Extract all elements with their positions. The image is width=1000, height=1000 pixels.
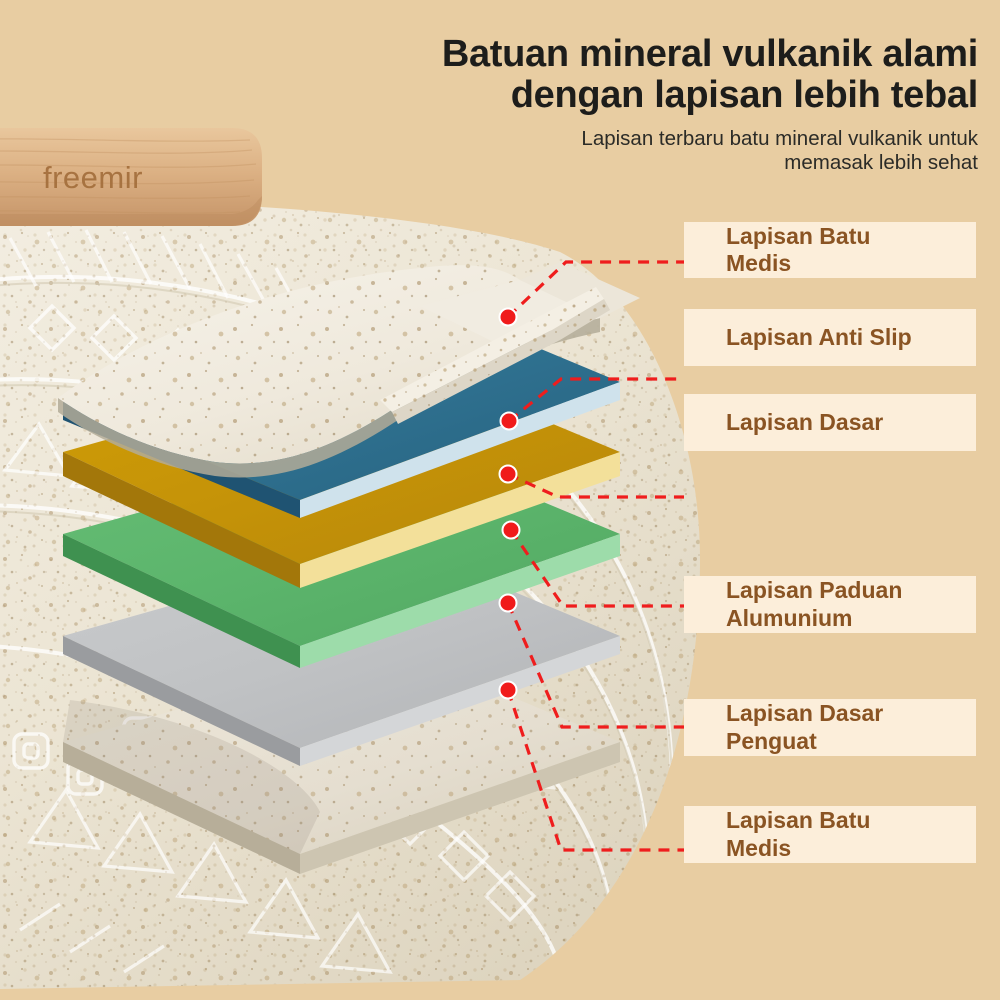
leader-dot-2 bbox=[501, 413, 518, 430]
brand-logo-text: freemir bbox=[43, 160, 143, 195]
callout-6-line-1: Lapisan Batu bbox=[726, 807, 870, 834]
callout-5-line-1: Lapisan Dasar bbox=[726, 700, 883, 727]
subtitle-line-2: memasak lebih sehat bbox=[784, 151, 978, 174]
callout-1-line-2: Medis bbox=[726, 250, 870, 277]
callout-1-line-1: Lapisan Batu bbox=[726, 223, 870, 250]
page-subtitle: Lapisan terbaru batu mineral vulkanik un… bbox=[360, 127, 978, 175]
callout-6-line-2: Medis bbox=[726, 835, 870, 862]
callout-label-lapisan-dasar: Lapisan Dasar bbox=[684, 394, 976, 451]
callout-5-line-2: Penguat bbox=[726, 728, 883, 755]
header-block: Batuan mineral vulkanik alami dengan lap… bbox=[360, 34, 978, 175]
callout-4-line-2: Alumunium bbox=[726, 605, 902, 632]
callout-label-lapisan-batu-medis-top: Lapisan Batu Medis bbox=[684, 222, 976, 278]
callout-label-lapisan-dasar-penguat: Lapisan Dasar Penguat bbox=[684, 699, 976, 756]
callout-label-lapisan-anti-slip: Lapisan Anti Slip bbox=[684, 309, 976, 366]
page-title: Batuan mineral vulkanik alami dengan lap… bbox=[360, 34, 978, 116]
leader-dot-3 bbox=[500, 466, 517, 483]
leader-dot-6 bbox=[500, 682, 517, 699]
leader-dot-5 bbox=[500, 595, 517, 612]
callout-label-lapisan-batu-medis-bottom: Lapisan Batu Medis bbox=[684, 806, 976, 863]
leader-dot-4 bbox=[503, 522, 520, 539]
subtitle-line-1: Lapisan terbaru batu mineral vulkanik un… bbox=[581, 127, 978, 150]
callout-4-line-1: Lapisan Paduan bbox=[726, 577, 902, 604]
infographic-canvas: freemir bbox=[0, 0, 1000, 1000]
leader-dot-1 bbox=[500, 309, 517, 326]
callout-2-line-1: Lapisan Anti Slip bbox=[726, 324, 912, 351]
title-line-2: dengan lapisan lebih tebal bbox=[511, 74, 978, 116]
wooden-handle: freemir bbox=[0, 128, 262, 226]
callout-3-line-1: Lapisan Dasar bbox=[726, 409, 883, 436]
title-line-1: Batuan mineral vulkanik alami bbox=[442, 33, 978, 75]
callout-label-lapisan-paduan-alumunium: Lapisan Paduan Alumunium bbox=[684, 576, 976, 633]
